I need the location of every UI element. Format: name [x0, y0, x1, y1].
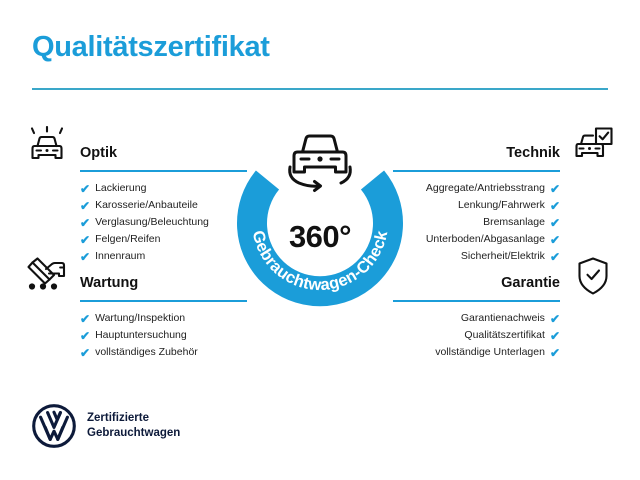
list-item: ✔ Felgen/Reifen	[22, 231, 252, 248]
list-item-label: Verglasung/Beleuchtung	[95, 214, 209, 231]
list-item: Garantienachweis ✔	[388, 310, 618, 327]
check-icon: ✔	[80, 234, 90, 246]
list-item-label: vollständige Unterlagen	[435, 344, 545, 361]
list-item-label: Unterboden/Abgasanlage	[426, 231, 545, 248]
section-garantie-title: Garantie	[501, 276, 560, 291]
check-icon: ✔	[550, 183, 560, 195]
title-divider	[32, 88, 608, 90]
badge-360-gebrauchtwagen-check: Gebrauchtwagen-Check 360°	[232, 118, 408, 318]
check-icon: ✔	[550, 347, 560, 359]
footer-brand-lockup: Zertifizierte Gebrauchtwagen	[32, 404, 180, 448]
check-icon: ✔	[550, 330, 560, 342]
shield-check-icon	[570, 256, 616, 298]
list-item-label: Aggregate/Antriebsstrang	[426, 180, 545, 197]
list-item: Qualitätszertifikat ✔	[388, 327, 618, 344]
list-item: ✔ Verglasung/Beleuchtung	[22, 214, 252, 231]
section-wartung-list: ✔ Wartung/Inspektion ✔ Hauptuntersuchung…	[22, 310, 252, 361]
list-item-label: Hauptuntersuchung	[95, 327, 187, 344]
section-garantie: Garantie Garantienachweis ✔ Qualitätszer…	[388, 256, 618, 361]
check-icon: ✔	[80, 313, 90, 325]
section-garantie-header: Garantie	[388, 256, 618, 302]
section-optik-title: Optik	[80, 146, 117, 161]
footer-brand-text: Zertifizierte Gebrauchtwagen	[87, 411, 180, 441]
list-item-label: Bremsanlage	[483, 214, 545, 231]
list-item-label: Lenkung/Fahrwerk	[458, 197, 545, 214]
volkswagen-logo	[32, 404, 76, 448]
check-icon: ✔	[80, 217, 90, 229]
section-optik-header: Optik	[22, 126, 252, 172]
check-icon: ✔	[550, 313, 560, 325]
list-item-label: Wartung/Inspektion	[95, 310, 185, 327]
section-technik: Technik Aggregate/Antriebsstrang ✔ Lenku…	[388, 126, 618, 265]
list-item: Aggregate/Antriebsstrang ✔	[388, 180, 618, 197]
list-item: ✔ vollständiges Zubehör	[22, 344, 252, 361]
section-optik-list: ✔ Lackierung ✔ Karosserie/Anbauteile ✔ V…	[22, 180, 252, 265]
list-item-label: Lackierung	[95, 180, 146, 197]
section-technik-header: Technik	[388, 126, 618, 172]
check-icon: ✔	[550, 234, 560, 246]
section-wartung-header: Wartung	[22, 256, 252, 302]
section-optik-divider	[80, 170, 247, 172]
page-title: Qualitätszertifikat	[32, 33, 270, 62]
list-item: ✔ Karosserie/Anbauteile	[22, 197, 252, 214]
section-wartung: Wartung ✔ Wartung/Inspektion ✔ Hauptunte…	[22, 256, 252, 361]
section-technik-list: Aggregate/Antriebsstrang ✔ Lenkung/Fahrw…	[388, 180, 618, 265]
footer-brand-line2: Gebrauchtwagen	[87, 426, 180, 441]
list-item: Bremsanlage ✔	[388, 214, 618, 231]
footer-brand-line1: Zertifizierte	[87, 411, 180, 426]
list-item-label: Felgen/Reifen	[95, 231, 160, 248]
check-icon: ✔	[80, 200, 90, 212]
list-item: ✔ Lackierung	[22, 180, 252, 197]
section-garantie-list: Garantienachweis ✔ Qualitätszertifikat ✔…	[388, 310, 618, 361]
section-wartung-divider	[80, 300, 247, 302]
section-technik-title: Technik	[506, 146, 560, 161]
badge-degrees-label: 360°	[232, 221, 408, 252]
section-technik-divider	[393, 170, 560, 172]
list-item: ✔ Wartung/Inspektion	[22, 310, 252, 327]
section-garantie-divider	[393, 300, 560, 302]
certificate-page: Qualitätszertifikat Optik	[0, 0, 640, 480]
check-icon: ✔	[80, 330, 90, 342]
car-shine-icon	[24, 126, 70, 168]
check-icon: ✔	[80, 183, 90, 195]
check-icon: ✔	[80, 347, 90, 359]
list-item: Unterboden/Abgasanlage ✔	[388, 231, 618, 248]
badge-graphic: Gebrauchtwagen-Check	[232, 118, 408, 318]
section-optik: Optik ✔ Lackierung ✔ Karosserie/Anbautei…	[22, 126, 252, 265]
car-checkbox-icon	[570, 126, 616, 168]
list-item-label: Qualitätszertifikat	[464, 327, 545, 344]
section-wartung-title: Wartung	[80, 276, 138, 291]
car-rotation-icon	[290, 136, 351, 191]
list-item: vollständige Unterlagen ✔	[388, 344, 618, 361]
list-item-label: vollständiges Zubehör	[95, 344, 198, 361]
pen-car-service-icon	[24, 256, 70, 298]
list-item: Lenkung/Fahrwerk ✔	[388, 197, 618, 214]
list-item: ✔ Hauptuntersuchung	[22, 327, 252, 344]
check-icon: ✔	[550, 200, 560, 212]
list-item-label: Garantienachweis	[461, 310, 545, 327]
check-icon: ✔	[550, 217, 560, 229]
list-item-label: Karosserie/Anbauteile	[95, 197, 198, 214]
